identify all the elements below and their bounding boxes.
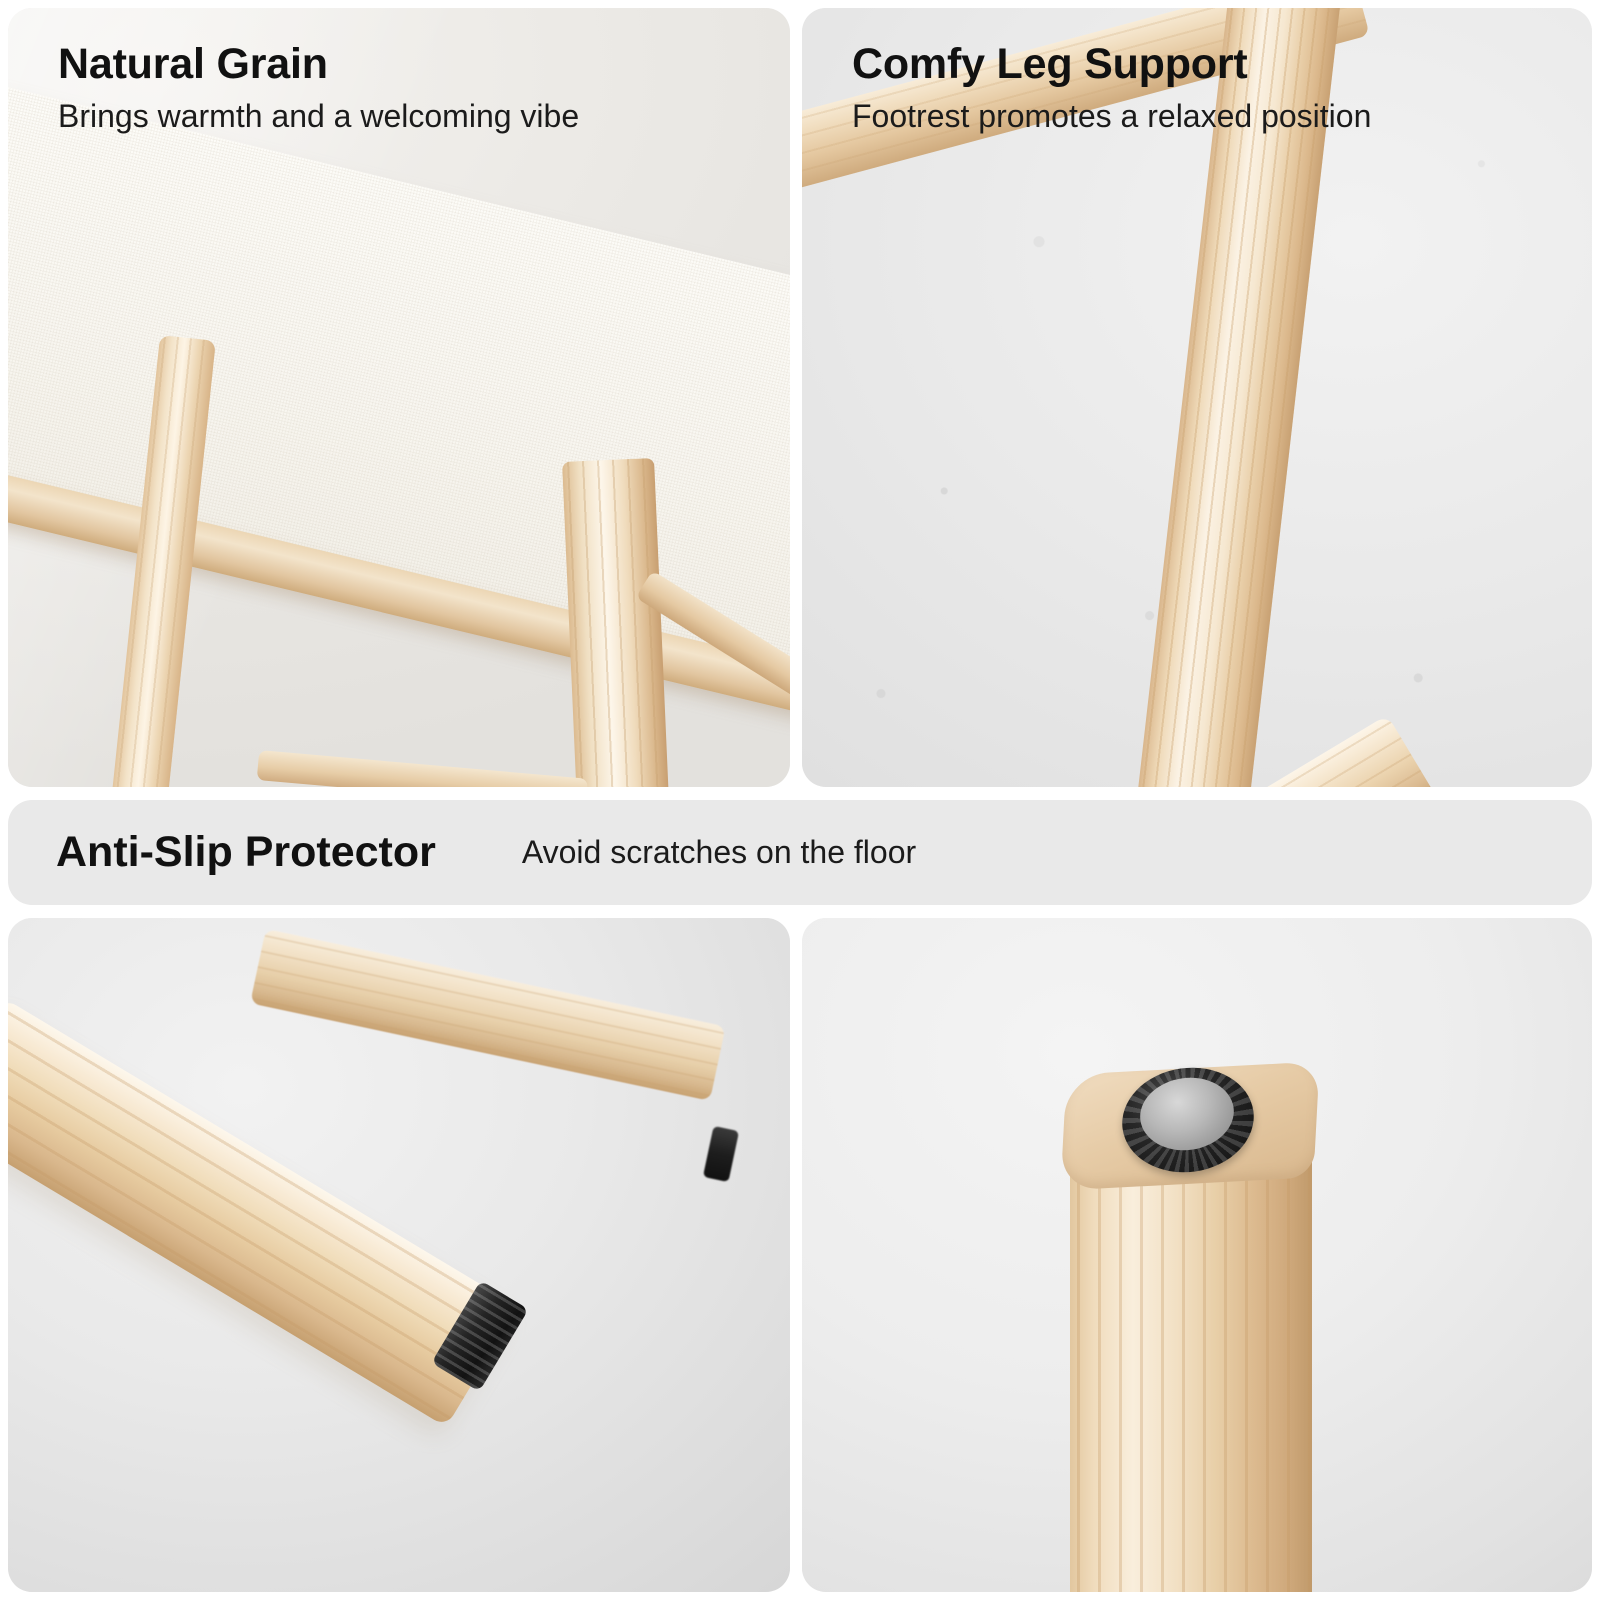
anti-slip-banner: Anti-Slip Protector Avoid scratches on t… <box>8 800 1592 905</box>
infographic-board: Natural Grain Brings warmth and a welcom… <box>0 0 1600 1600</box>
panel-natural-grain: Natural Grain Brings warmth and a welcom… <box>8 8 790 787</box>
chair-leg-post <box>1070 1132 1312 1592</box>
photo-anti-slip-legs <box>8 918 790 1592</box>
banner-text-group: Anti-Slip Protector Avoid scratches on t… <box>56 800 916 905</box>
panel-anti-slip-closeup <box>802 918 1592 1592</box>
banner-subtitle: Avoid scratches on the floor <box>522 834 916 871</box>
photo-natural-grain <box>8 8 790 787</box>
chair-leg-right <box>562 458 670 787</box>
panel-comfy-leg-support: Comfy Leg Support Footrest promotes a re… <box>802 8 1592 787</box>
photo-anti-slip-closeup <box>802 918 1592 1592</box>
panel-anti-slip-legs <box>8 918 790 1592</box>
photo-comfy-leg-support <box>802 8 1592 787</box>
banner-title: Anti-Slip Protector <box>56 828 436 877</box>
